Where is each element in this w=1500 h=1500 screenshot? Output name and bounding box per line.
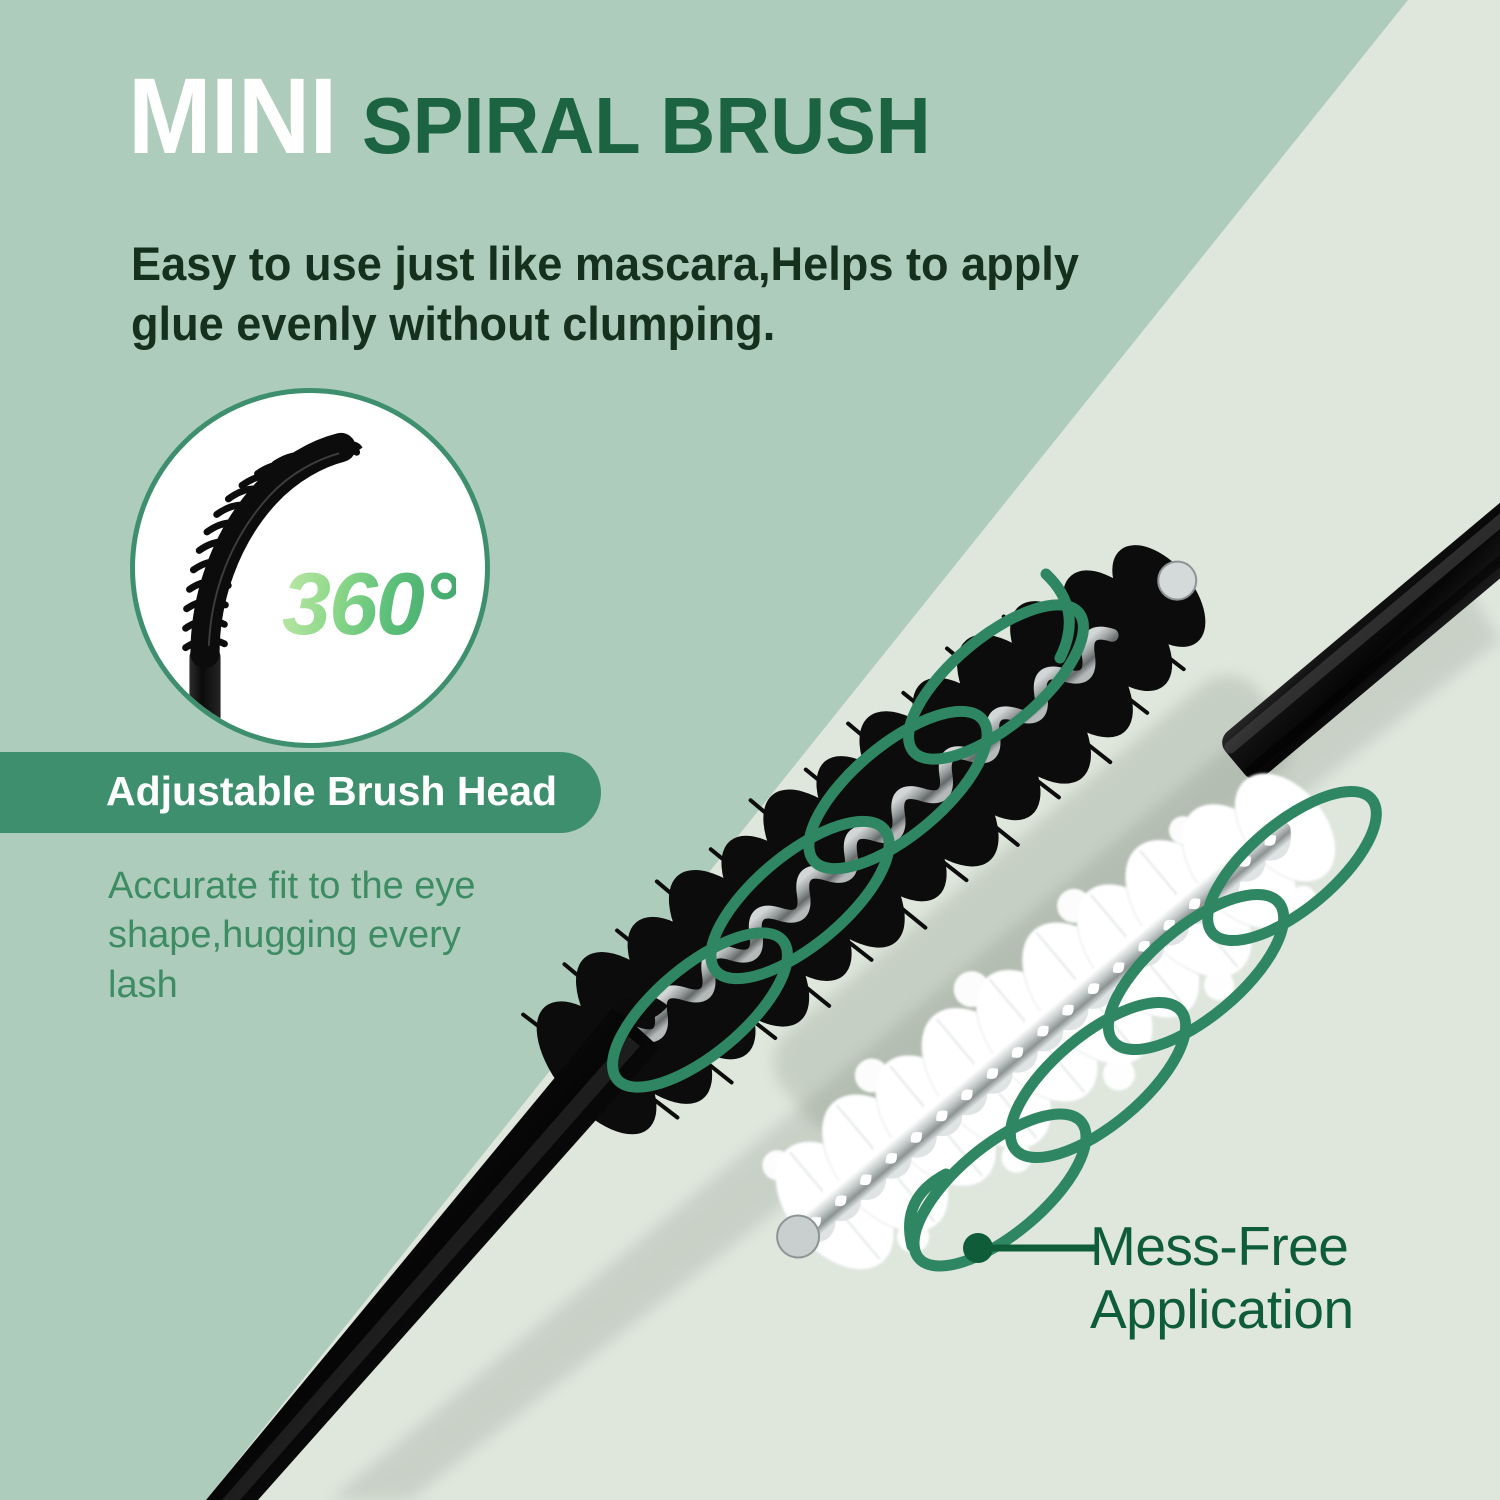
title-word-spiral-brush: SPIRAL BRUSH bbox=[362, 86, 931, 166]
callout-dot-icon bbox=[963, 1233, 993, 1263]
page-title: MINISPIRAL BRUSH bbox=[128, 62, 961, 170]
callout-line-1: Mess-Free bbox=[1090, 1215, 1354, 1278]
360-degree-label: 360° bbox=[282, 560, 456, 648]
callout-leader-line bbox=[962, 1233, 1097, 1263]
mess-free-application-callout: Mess-Free Application bbox=[1090, 1215, 1354, 1342]
subtitle-text: Easy to use just like mascara,Helps to a… bbox=[131, 234, 1101, 354]
title-word-mini: MINI bbox=[128, 62, 336, 170]
callout-line-2: Application bbox=[1090, 1278, 1354, 1341]
adjustable-brush-head-pill: Adjustable Brush Head bbox=[0, 752, 601, 833]
product-infographic: MINISPIRAL BRUSH Easy to use just like m… bbox=[0, 0, 1500, 1500]
adjustable-brush-head-description: Accurate fit to the eye shape,hugging ev… bbox=[108, 862, 528, 1010]
